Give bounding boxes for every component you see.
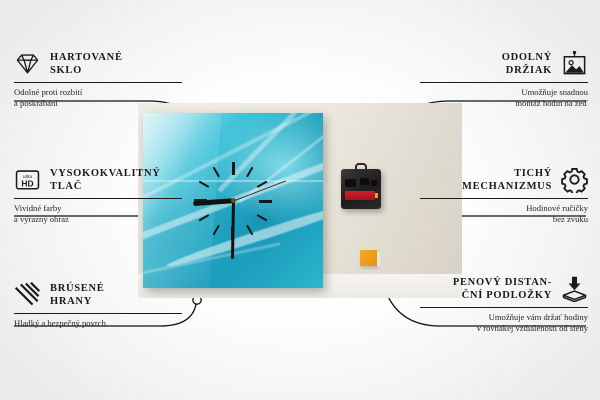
svg-text:HD: HD — [21, 178, 33, 188]
feature-description: Umožňuje snadnou montáž hodin na zeď — [420, 87, 588, 110]
battery — [345, 191, 375, 200]
clock-minute-hand — [230, 200, 234, 258]
feature-title: HARTOVANÉ SKLO — [50, 51, 123, 77]
press-down-pad-icon — [561, 275, 588, 302]
product-photo — [138, 103, 462, 298]
feature-silent-mechanism: TICHÝ MECHANIZMUS Hodinové ručičky bez z… — [420, 166, 588, 226]
feature-description: Vividné farby a výrazný obraz — [14, 203, 182, 226]
mechanism-detail — [345, 179, 356, 187]
feature-divider — [14, 198, 182, 199]
feature-title: TICHÝ MECHANIZMUS — [462, 167, 552, 193]
feature-divider — [420, 82, 588, 83]
feature-description: Hodinové ručičky bez zvuku — [420, 203, 588, 226]
feature-header: PENOVÝ DISTAN- ČNÍ PODLOŽKY — [420, 275, 588, 302]
feature-title: ODOLNÝ DRŽIAK — [502, 51, 552, 77]
feature-description: Odolné proti rozbití a poškrábání — [14, 87, 182, 110]
feature-foam-spacers: PENOVÝ DISTAN- ČNÍ PODLOŽKY Umožňuje vám… — [420, 275, 588, 335]
feature-title: BRÚSENÉ HRANY — [50, 282, 105, 308]
feature-description: Umožňuje vám držať hodiny v rovnakej vzd… — [420, 312, 588, 335]
feature-durable-holder: ODOLNÝ DRŽIAK Umožňuje snadnou montáž ho… — [420, 50, 588, 110]
mechanism-hanger — [355, 163, 367, 172]
diagonal-stripes-icon — [14, 281, 41, 308]
diamond-icon — [14, 50, 41, 77]
mechanism-detail — [360, 178, 369, 185]
feature-description: Hladký a bezpečný povrch — [14, 318, 182, 329]
foam-spacer-pad — [360, 250, 377, 266]
feature-divider — [420, 198, 588, 199]
feature-header: BRÚSENÉ HRANY — [14, 281, 182, 308]
feature-high-quality-print: ultra HD VYSOKOKVALITNÝ TLAČ Vividné far… — [14, 166, 182, 226]
feature-header: ODOLNÝ DRŽIAK — [420, 50, 588, 77]
feature-divider — [14, 82, 182, 83]
picture-hanger-icon — [561, 50, 588, 77]
feature-header: HARTOVANÉ SKLO — [14, 50, 182, 77]
feature-divider — [420, 307, 588, 308]
feature-title: PENOVÝ DISTAN- ČNÍ PODLOŽKY — [453, 276, 552, 302]
gear-icon — [561, 166, 588, 193]
feature-divider — [14, 313, 182, 314]
ultra-hd-icon: ultra HD — [14, 166, 41, 193]
product-infographic: HARTOVANÉ SKLO Odolné proti rozbití a po… — [0, 0, 600, 400]
feature-title: VYSOKOKVALITNÝ TLAČ — [50, 167, 161, 193]
feature-polished-edges: BRÚSENÉ HRANY Hladký a bezpečný povrch — [14, 281, 182, 329]
feature-header: TICHÝ MECHANIZMUS — [420, 166, 588, 193]
feature-header: ultra HD VYSOKOKVALITNÝ TLAČ — [14, 166, 182, 193]
feature-hardened-glass: HARTOVANÉ SKLO Odolné proti rozbití a po… — [14, 50, 182, 110]
clock-center-cap — [231, 198, 236, 203]
clock-mechanism — [341, 169, 381, 209]
mechanism-detail — [371, 180, 377, 186]
